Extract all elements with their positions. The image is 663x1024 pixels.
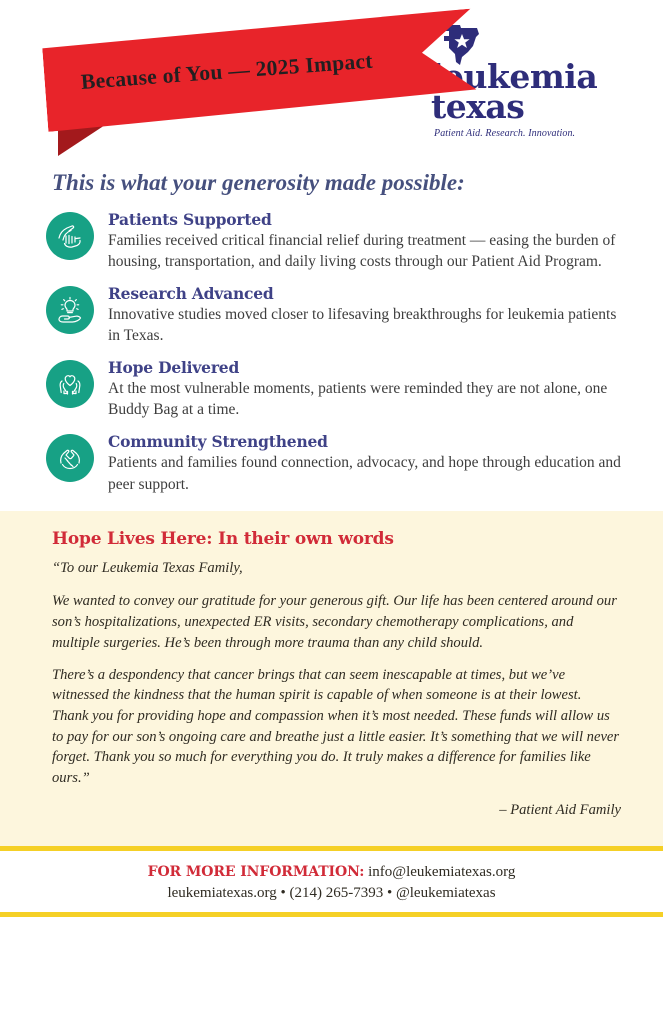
- impact-item-description: Families received critical financial rel…: [108, 230, 623, 272]
- logo-wordmark: leukemia texas: [431, 62, 621, 123]
- impact-item-description: Patients and families found connection, …: [108, 452, 623, 494]
- lightbulb-in-hand-icon: [46, 286, 94, 334]
- testimonial-attribution: – Patient Aid Family: [52, 800, 621, 821]
- impact-item-description: At the most vulnerable moments, patients…: [108, 378, 623, 420]
- testimonial-heading: Hope Lives Here: In their own words: [52, 529, 621, 549]
- impact-section: This is what your generosity made possib…: [0, 170, 663, 495]
- page-footer: FOR MORE INFORMATION: info@leukemiatexas…: [0, 851, 663, 912]
- impact-item-heading: Research Advanced: [108, 284, 623, 303]
- impact-item-community-strengthened: Community Strengthened Patients and fami…: [46, 432, 623, 494]
- handshake-icon: [46, 434, 94, 482]
- impact-section-title: This is what your generosity made possib…: [52, 170, 623, 196]
- footer-info-label: FOR MORE INFORMATION:: [148, 864, 365, 880]
- heart-in-hands-icon: [46, 360, 94, 408]
- impact-item-heading: Hope Delivered: [108, 358, 623, 377]
- impact-item-text: Hope Delivered At the most vulnerable mo…: [108, 358, 623, 420]
- impact-item-text: Community Strengthened Patients and fami…: [108, 432, 623, 494]
- logo-tagline: Patient Aid. Research. Innovation.: [434, 128, 621, 139]
- testimonial-section: Hope Lives Here: In their own words “To …: [0, 511, 663, 846]
- footer-email[interactable]: info@leukemiatexas.org: [368, 864, 515, 880]
- testimonial-salutation: “To our Leukemia Texas Family,: [52, 558, 621, 579]
- gold-divider-bottom: [0, 912, 663, 917]
- logo-word-line2: texas: [431, 92, 621, 122]
- impact-ribbon: Because of You — 2025 Impact: [45, 40, 475, 160]
- page-header: Because of You — 2025 Impact leukemia te…: [0, 0, 663, 170]
- helping-hands-icon: [46, 212, 94, 260]
- testimonial-paragraph-1: We wanted to convey our gratitude for yo…: [52, 591, 621, 653]
- impact-item-text: Research Advanced Innovative studies mov…: [108, 284, 623, 346]
- impact-item-research-advanced: Research Advanced Innovative studies mov…: [46, 284, 623, 346]
- impact-item-text: Patients Supported Families received cri…: [108, 210, 623, 272]
- footer-info-line: FOR MORE INFORMATION: info@leukemiatexas…: [0, 864, 663, 881]
- impact-item-hope-delivered: Hope Delivered At the most vulnerable mo…: [46, 358, 623, 420]
- impact-item-patients-supported: Patients Supported Families received cri…: [46, 210, 623, 272]
- impact-item-description: Innovative studies moved closer to lifes…: [108, 304, 623, 346]
- testimonial-paragraph-2: There’s a despondency that cancer brings…: [52, 665, 621, 789]
- footer-contact-line[interactable]: leukemiatexas.org • (214) 265-7393 • @le…: [0, 885, 663, 902]
- impact-item-heading: Patients Supported: [108, 210, 623, 229]
- impact-item-heading: Community Strengthened: [108, 432, 623, 451]
